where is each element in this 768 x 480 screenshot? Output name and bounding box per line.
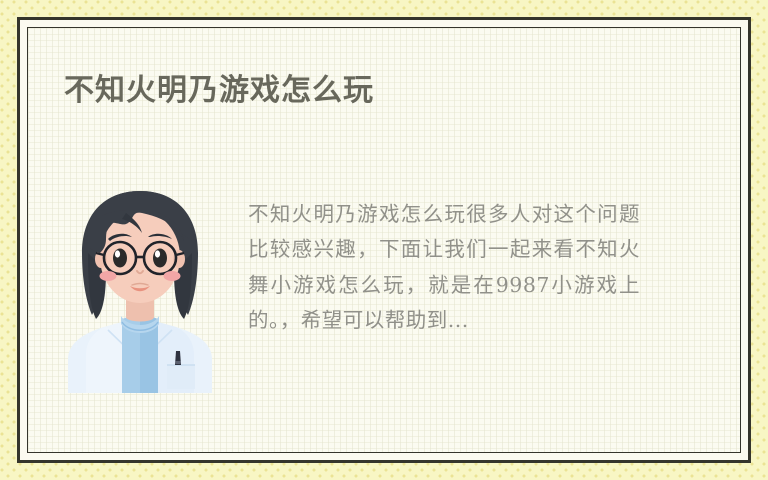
eye-left-highlight [115,250,120,257]
eye-left [113,249,127,268]
cheek-right [164,271,181,281]
article-body-text: 不知火明乃游戏怎么玩很多人对这个问题比较感兴趣，下面让我们一起来看不知火舞小游戏… [216,183,640,338]
female-doctor-avatar-icon [64,183,216,393]
article-content-row: 不知火明乃游戏怎么玩很多人对这个问题比较感兴趣，下面让我们一起来看不知火舞小游戏… [64,183,716,393]
decorative-frame-inner: 不知火明乃游戏怎么玩 [27,27,741,453]
cheek-left [100,271,117,281]
page-canvas: 不知火明乃游戏怎么玩 [0,0,768,480]
pocket-pen-clip [176,361,181,364]
eye-right [153,249,167,268]
page-title: 不知火明乃游戏怎么玩 [64,73,374,109]
decorative-frame-outer: 不知火明乃游戏怎么玩 [17,17,751,463]
avatar [64,183,216,393]
coat-pocket [167,365,195,389]
eye-right-highlight [155,250,160,257]
